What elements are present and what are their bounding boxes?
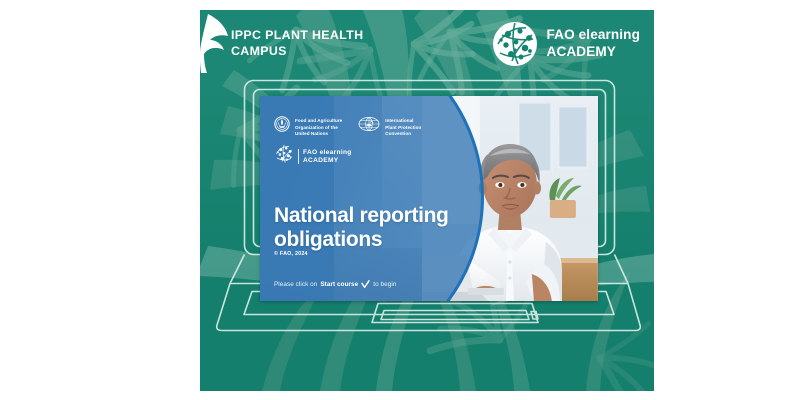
fao-un-logo: Food and Agriculture Organization of the…	[274, 116, 342, 138]
ippc-logo: International Plant Protection Conventio…	[358, 116, 421, 138]
check-mark-icon	[361, 280, 370, 289]
fao-un-emblem-icon	[274, 116, 290, 137]
slide-academy-caption: FAO elearning ACADEMY	[298, 149, 352, 165]
fao-elearning-network-icon	[492, 21, 538, 67]
slide-content: Food and Agriculture Organization of the…	[260, 96, 598, 301]
cta-start-course-label[interactable]: Start course	[320, 281, 358, 288]
cta-prefix: Please click on	[274, 281, 317, 288]
course-promo-card: IPPC PLANT HEALTH CAMPUS	[200, 10, 654, 391]
course-slide[interactable]: Food and Agriculture Organization of the…	[260, 96, 598, 301]
fao-academy-title: FAO elearning ACADEMY	[547, 27, 640, 60]
slide-copyright: © FAO, 2024	[274, 251, 308, 257]
slide-call-to-action: Please click on Start course to begin	[274, 280, 396, 289]
card-header: IPPC PLANT HEALTH CAMPUS	[200, 10, 654, 74]
fao-un-caption: Food and Agriculture Organization of the…	[295, 116, 342, 138]
ippc-caption: International Plant Protection Conventio…	[385, 116, 421, 138]
fao-elearning-academy-lockup: FAO elearning ACADEMY	[492, 21, 640, 67]
ippc-globe-icon	[358, 116, 380, 137]
page-title: IPPC PLANT HEALTH CAMPUS	[231, 28, 363, 60]
fao-elearning-network-icon	[274, 144, 294, 169]
slide-logo-row: Food and Agriculture Organization of the…	[274, 116, 421, 138]
cta-suffix: to begin	[373, 281, 396, 288]
ippc-leaf-icon	[200, 12, 232, 74]
slide-title: National reporting obligations	[274, 204, 484, 251]
slide-academy-logo: FAO elearning ACADEMY	[274, 144, 352, 169]
screenshot-canvas: IPPC PLANT HEALTH CAMPUS	[0, 0, 800, 400]
